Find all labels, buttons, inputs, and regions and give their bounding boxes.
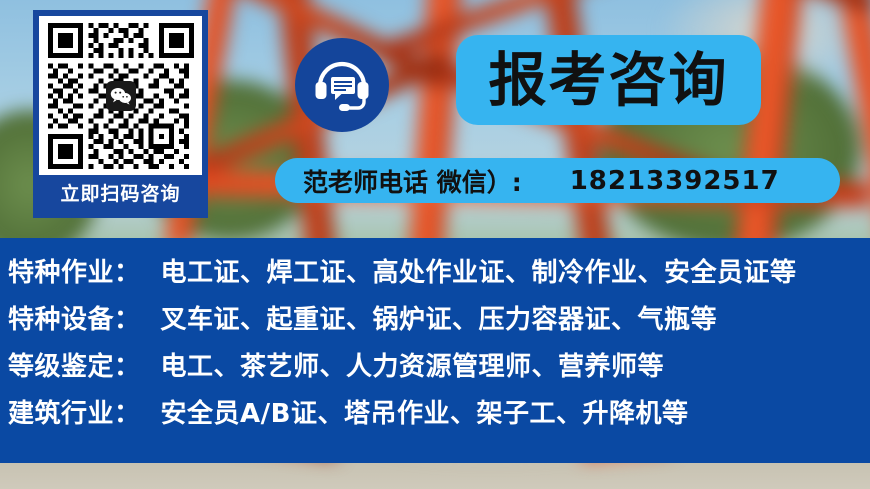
consult-cta-button[interactable]: 报考咨询 xyxy=(456,35,761,125)
contact-bar[interactable]: 范老师电话 微信）: 18213392517 xyxy=(275,158,840,203)
qr-caption: 立即扫码咨询 xyxy=(36,175,205,215)
info-label: 特种作业： xyxy=(8,252,141,289)
qr-card[interactable]: 立即扫码咨询 xyxy=(33,10,208,218)
wechat-glyph xyxy=(110,87,132,105)
promo-poster: 立即扫码咨询 报考咨询 范老师电话 微信）: 18213392517 特种作业：… xyxy=(0,0,870,489)
wechat-icon xyxy=(106,81,136,111)
info-row-special-operations: 特种作业： 电工证、焊工证、高处作业证、制冷作业、安全员证等 xyxy=(0,252,870,299)
info-value: 电工证、焊工证、高处作业证、制冷作业、安全员证等 xyxy=(161,252,797,289)
info-value: 电工、茶艺师、人力资源管理师、营养师等 xyxy=(161,346,665,383)
info-label: 特种设备： xyxy=(8,299,141,336)
info-row-grade-certification: 等级鉴定： 电工、茶艺师、人力资源管理师、营养师等 xyxy=(0,346,870,393)
info-label: 等级鉴定： xyxy=(8,346,141,383)
consult-cta-label: 报考咨询 xyxy=(488,51,728,109)
contact-label: 范老师电话 微信）: xyxy=(303,163,522,199)
contact-phone-number[interactable]: 18213392517 xyxy=(570,166,780,196)
info-row-special-equipment: 特种设备： 叉车证、起重证、锅炉证、压力容器证、气瓶等 xyxy=(0,299,870,346)
headset-badge xyxy=(295,38,389,132)
qr-code-image[interactable] xyxy=(39,16,202,175)
info-value: 叉车证、起重证、锅炉证、压力容器证、气瓶等 xyxy=(161,299,718,336)
info-row-construction-industry: 建筑行业： 安全员A/B证、塔吊作业、架子工、升降机等 xyxy=(0,393,870,440)
headset-chat-icon xyxy=(312,56,372,114)
certificate-info-panel: 特种作业： 电工证、焊工证、高处作业证、制冷作业、安全员证等 特种设备： 叉车证… xyxy=(0,238,870,463)
info-value: 安全员A/B证、塔吊作业、架子工、升降机等 xyxy=(161,393,689,430)
info-label: 建筑行业： xyxy=(8,393,141,430)
